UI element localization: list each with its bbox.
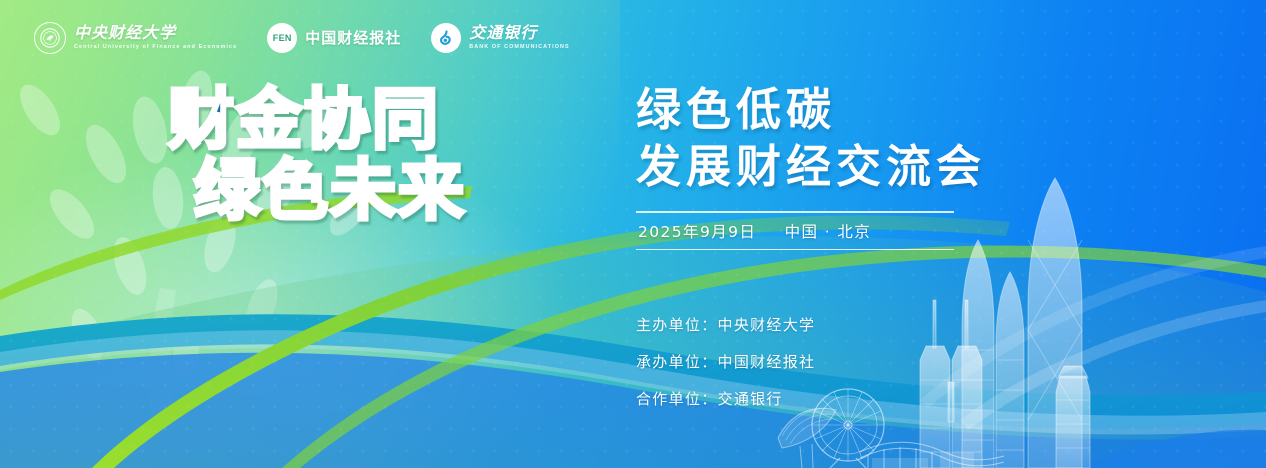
logo-cfen: FEN 中国财经报社 — [267, 23, 401, 53]
event-city: 中国 · 北京 — [785, 223, 872, 241]
subtitle-line-2: 发展财经交流会 — [636, 139, 986, 196]
logo-bocom-cn: 交通银行 — [469, 26, 569, 42]
logo-bocom-text: 交通银行 BANK OF COMMUNICATIONS — [469, 26, 569, 50]
logo-cufe: 中央财经大学 Central University of Finance and… — [34, 22, 237, 54]
headline-line-2: 绿色未来 — [194, 157, 608, 224]
event-date-line: 2025年9月9日 中国 · 北京 — [636, 213, 954, 249]
organizer-partner-role: 合作单位： — [636, 390, 718, 408]
event-date: 2025年9月9日 — [638, 223, 756, 241]
logo-bocom-en: BANK OF COMMUNICATIONS — [469, 45, 569, 50]
headline-line-1: 财金协同 — [168, 86, 608, 153]
conference-banner: 中央财经大学 Central University of Finance and… — [0, 0, 1266, 468]
organizer-coordinator: 承办单位：中国财经报社 — [636, 351, 815, 372]
subtitle-line-1: 绿色低碳 — [636, 82, 986, 139]
sponsor-logo-row: 中央财经大学 Central University of Finance and… — [34, 22, 570, 54]
organizer-coordinator-name: 中国财经报社 — [718, 353, 816, 371]
dot-texture — [0, 0, 1266, 468]
organizer-host: 主办单位：中央财经大学 — [636, 314, 815, 335]
logo-cfen-text: 中国财经报社 — [305, 31, 401, 46]
logo-cufe-cn: 中央财经大学 — [74, 26, 237, 42]
logo-bocom: 交通银行 BANK OF COMMUNICATIONS — [431, 23, 569, 53]
bocom-icon — [431, 23, 461, 53]
organizer-host-name: 中央财经大学 — [718, 316, 816, 334]
logo-cufe-en: Central University of Finance and Econom… — [74, 45, 237, 50]
organizer-list: 主办单位：中央财经大学 承办单位：中国财经报社 合作单位：交通银行 — [636, 314, 815, 409]
date-rule-bottom — [636, 249, 954, 250]
organizer-partner-name: 交通银行 — [718, 390, 783, 408]
logo-cufe-text: 中央财经大学 Central University of Finance and… — [74, 26, 237, 50]
background-art — [0, 0, 1266, 468]
university-seal-icon — [34, 22, 66, 54]
event-title-block: 绿色低碳 发展财经交流会 2025年9月9日 中国 · 北京 — [636, 82, 986, 250]
logo-cfen-cn: 中国财经报社 — [305, 31, 401, 46]
event-date-block: 2025年9月9日 中国 · 北京 — [636, 211, 954, 250]
organizer-coordinator-role: 承办单位： — [636, 353, 718, 371]
organizer-partner: 合作单位：交通银行 — [636, 388, 815, 409]
organizer-host-role: 主办单位： — [636, 316, 718, 334]
main-headline: 财金协同 绿色未来 — [168, 86, 608, 225]
fen-circle-icon: FEN — [267, 23, 297, 53]
